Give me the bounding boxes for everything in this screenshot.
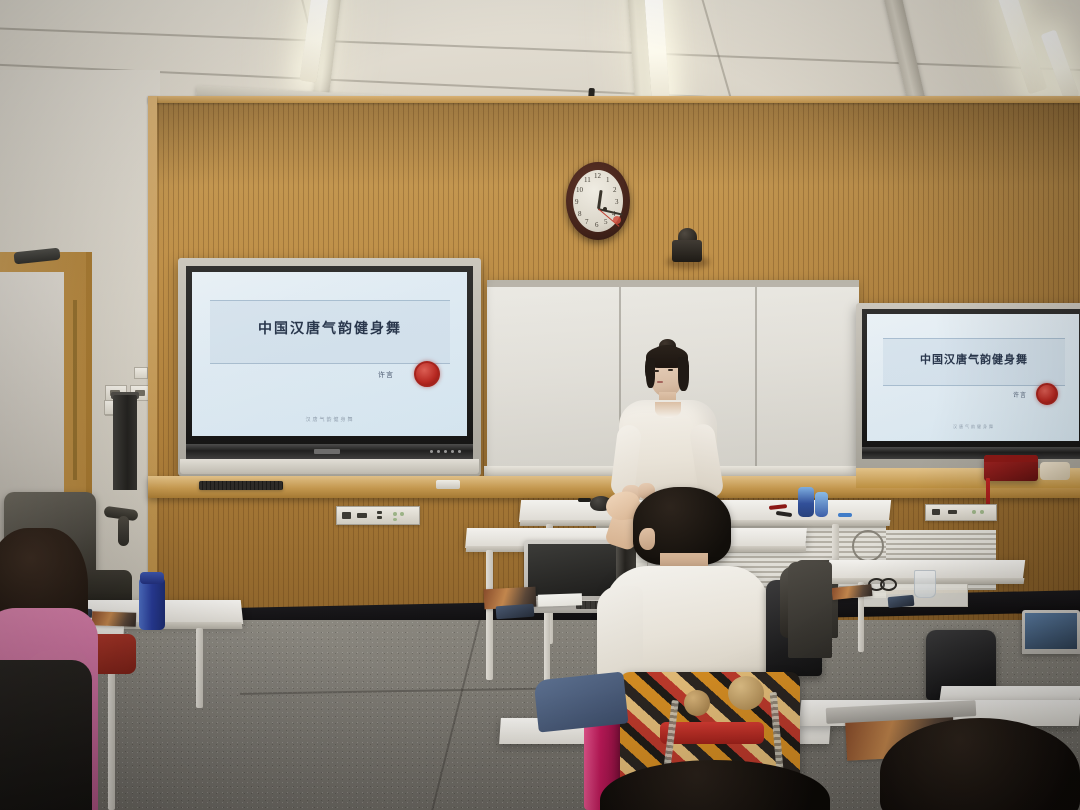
- wall-plate-small: [134, 367, 148, 379]
- clock-center-pin: [603, 207, 607, 211]
- clock-numeral: 2: [613, 187, 617, 194]
- clock-numeral: 6: [595, 222, 599, 229]
- slide-author: 许言: [378, 370, 394, 380]
- presenter-hair-side: [678, 357, 689, 391]
- red-seal-stamp: [414, 361, 440, 387]
- left-smartboard-pen-tray[interactable]: [180, 459, 479, 474]
- marker-pen[interactable]: [838, 513, 852, 517]
- smartphone[interactable]: [496, 604, 535, 620]
- fur-pompom: [728, 676, 764, 710]
- blue-bottle[interactable]: [798, 487, 814, 517]
- whiteboard-top-rail: [487, 283, 859, 287]
- clock-numeral: 1: [606, 177, 610, 184]
- slide-title: 中国汉唐气韵健身舞: [883, 351, 1065, 367]
- wall-camera: [672, 240, 702, 262]
- desk-leg: [486, 550, 493, 680]
- vent-emblem: [852, 530, 884, 562]
- keyboard[interactable]: [199, 481, 283, 490]
- av-wall-panel[interactable]: [336, 506, 420, 525]
- student-black-coat: [0, 660, 92, 810]
- clock-numeral: 5: [604, 219, 608, 226]
- whiteboard-eraser[interactable]: [436, 480, 460, 489]
- door-hinge: [73, 300, 77, 480]
- wood-trim-vertical: [148, 96, 157, 606]
- student-jeans: [534, 671, 629, 732]
- trash-bin[interactable]: [113, 395, 137, 490]
- blue-thermos[interactable]: [139, 578, 165, 630]
- left-smartboard-controls[interactable]: [186, 444, 473, 459]
- clock-numeral: 12: [594, 173, 601, 180]
- office-chair-armrest[interactable]: [118, 516, 129, 546]
- presenter-hair-side: [646, 358, 655, 388]
- presenter-mouth: [657, 381, 663, 383]
- wood-trim-top: [148, 96, 1080, 103]
- tablet-device[interactable]: [1022, 610, 1080, 654]
- clock-numeral: 9: [575, 199, 579, 206]
- smartphone[interactable]: [888, 595, 915, 608]
- clock-numeral: 10: [576, 187, 583, 194]
- clock-hour-hand: [597, 190, 603, 209]
- clock-numeral: 3: [615, 199, 619, 206]
- blue-bottle[interactable]: [815, 492, 828, 517]
- ledge-items: [1040, 462, 1070, 480]
- presenter-eye: [654, 370, 659, 372]
- clock-second-counterweight: [613, 216, 621, 224]
- student-ear: [639, 528, 655, 550]
- presenter-eye: [668, 369, 673, 371]
- slide-footer: 汉唐气韵健身舞: [883, 424, 1065, 430]
- fluorescent-light-strip: [1041, 29, 1080, 100]
- desk-leg: [196, 628, 203, 708]
- right-smartboard-controls[interactable]: [862, 447, 1080, 459]
- slide-footer: 汉唐气韵健身舞: [210, 416, 450, 423]
- red-case-lid: [984, 455, 1038, 462]
- eyeglasses[interactable]: [880, 578, 897, 591]
- paper-sheet[interactable]: [538, 593, 582, 607]
- smartboard-logo: [314, 449, 340, 454]
- slide-author: 许言: [1013, 390, 1027, 399]
- av-wall-panel[interactable]: [925, 504, 997, 521]
- fluorescent-light-strip: [996, 0, 1047, 94]
- student-shoulder: [597, 586, 643, 678]
- notebook[interactable]: [92, 611, 136, 627]
- desk-leg: [108, 660, 115, 810]
- red-seal-stamp: [1036, 383, 1058, 405]
- classroom-photo: 12 1 2 3 4 5 6 7 8 9 10 11: [0, 0, 1080, 810]
- right-smartboard-screen[interactable]: 中国汉唐气韵健身舞 许言 汉唐气韵健身舞: [867, 314, 1079, 441]
- presenter-collar: [655, 402, 681, 418]
- clock-numeral: 11: [584, 177, 591, 184]
- slide-title: 中国汉唐气韵健身舞: [210, 318, 450, 338]
- fur-pompom: [684, 690, 710, 716]
- clock-numeral: 7: [585, 219, 589, 226]
- thermos-cap: [140, 572, 164, 584]
- plastic-cup[interactable]: [914, 570, 936, 598]
- scarf-hanging: [788, 562, 832, 658]
- wall-clock: 12 1 2 3 4 5 6 7 8 9 10 11: [566, 162, 630, 240]
- left-smartboard-screen[interactable]: 中国汉唐气韵健身舞 许言 汉唐气韵健身舞: [192, 272, 467, 436]
- marker-pen[interactable]: [578, 498, 591, 502]
- clock-numeral: 8: [578, 211, 582, 218]
